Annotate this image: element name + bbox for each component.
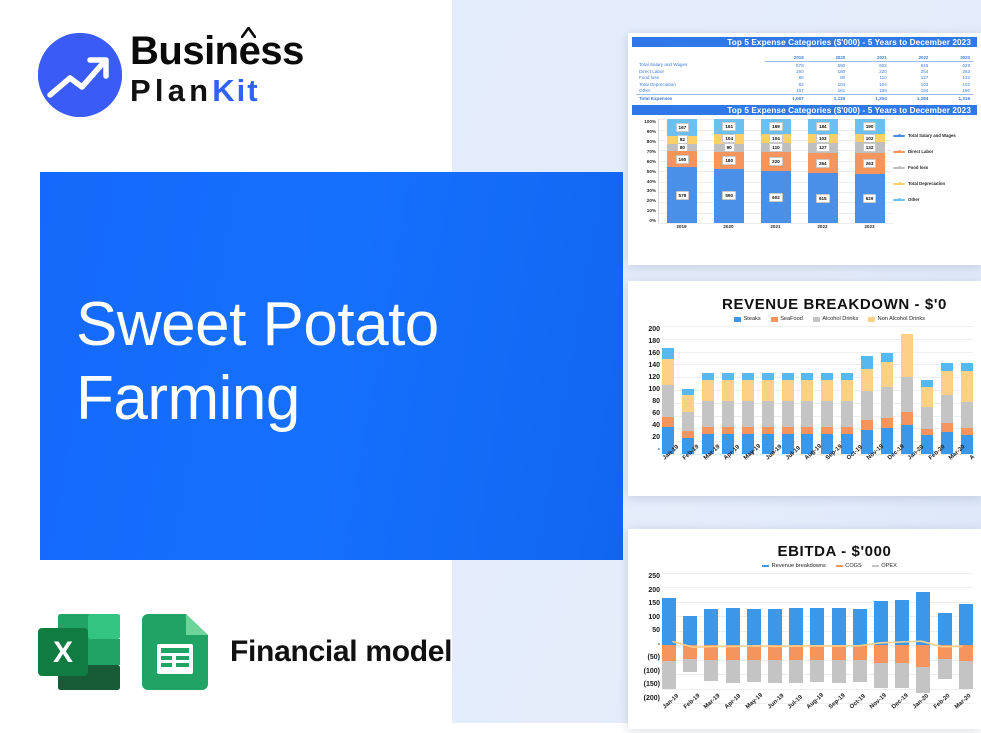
stacked-bar [722,373,734,454]
bar-segment [801,380,813,401]
expense-chart-banner: Top 5 Expense Categories ($'000) - 5 Yea… [632,105,977,115]
data-label: 190 [863,122,877,131]
legend-swatch [771,317,778,322]
expense-chart-x-axis: 20192020202120222023 [658,224,893,229]
axis-tick: (100) [634,668,660,676]
stacked-bar [782,373,794,454]
axis-tick: 10% [632,208,656,213]
bar-segment: 590 [714,169,744,224]
table-header-row: 20192020202120222023 [636,54,973,62]
legend-item: Total Depreciation [893,181,977,186]
legend-swatch [872,565,879,568]
bar-segment [941,395,953,424]
expense-chart-bars: 1678280160578161104901805901691041102206… [658,119,893,223]
bar-segment: 132 [855,142,885,152]
legend-swatch [893,183,905,185]
row-label: Other [636,88,765,95]
legend-label: COGS [845,563,861,569]
format-badges: X Financial model [38,612,452,692]
legend-item: OPEX [872,563,897,569]
legend-item: Total Salary and Wages [893,133,977,138]
bar-segment: 263 [855,153,885,174]
axis-tick: 20% [632,198,656,203]
bar-segment: 103 [808,134,838,142]
data-label: 602 [769,193,783,202]
table-cell: 1,067 [765,94,807,101]
legend-label: Steaks [744,316,761,322]
bar-segment [662,385,674,417]
ebitda-chart-legend: Revenue breakdownsCOGSOPEX [628,563,981,569]
axis-tick: 2022 [808,224,838,229]
legend-item: Revenue breakdowns [762,563,826,569]
bar-segment: 602 [761,171,791,223]
bar-segment [921,407,933,429]
bar-segment: 161 [714,119,744,134]
data-label: 254 [816,159,830,168]
google-sheets-icon [142,614,208,690]
column-header: 2019 [765,54,807,62]
expense-table-banner: Top 5 Expense Categories ($'000) - 5 Yea… [632,37,977,47]
bar-segment [662,417,674,427]
brand-plan-text: Plan [130,73,212,108]
bar-segment [881,362,893,388]
bar-segment [921,435,933,454]
expense-categories-card: Top 5 Expense Categories ($'000) - 5 Yea… [628,33,981,265]
bar-segment [702,427,714,434]
stacked-bar: 169104110220602 [761,119,791,223]
table-row: Other167161169184190 [636,88,973,95]
bar-segment [742,380,754,401]
axis-tick: 200 [634,326,660,334]
stacked-bar: 1678280160578 [667,119,697,223]
axis-tick: 20 [634,434,660,442]
axis-tick: 180 [634,338,660,346]
axis-tick: - [634,446,660,454]
data-label: 590 [722,191,736,200]
bar-segment [782,380,794,401]
bar-segment [801,401,813,427]
bar-segment [682,431,694,438]
bar-segment [841,401,853,427]
bar-segment [841,380,853,401]
bar-segment: 110 [761,143,791,152]
stacked-bar [881,353,893,454]
data-label: 615 [816,194,830,203]
table-cell: 184 [890,88,932,95]
table-cell: 1,316 [931,94,973,101]
table-cell: 190 [931,88,973,95]
expense-table: 20192020202120222023 Total Salary and Wa… [628,47,981,103]
data-label: 103 [816,134,830,143]
axis-tick: 2021 [761,224,791,229]
bar-segment [782,373,794,380]
legend-swatch [893,151,905,153]
data-label: 110 [769,143,782,152]
circumflex-accent-icon [241,27,256,38]
table-cell: 1,125 [807,94,849,101]
axis-tick: 100 [634,614,660,622]
bar-segment [961,428,973,435]
brand-kit-text: Kit [212,73,259,108]
revenue-breakdown-card: REVENUE BREAKDOWN - $'0 SteaksSeaFoodAlc… [628,281,981,496]
table-cell: 1,284 [890,94,932,101]
legend-swatch [893,167,905,169]
data-label: 263 [863,159,877,168]
page-title: Sweet Potato Farming [76,288,596,436]
bar-segment [762,380,774,401]
bar-segment [941,423,953,431]
stacked-bar: 184103127254615 [808,119,838,223]
legend-label: Direct Labor [908,149,933,154]
legend-label: OPEX [881,563,897,569]
bar-segment: 169 [761,119,791,134]
bar-segment [762,373,774,380]
axis-tick: 2020 [714,224,744,229]
bar-segment: 104 [761,134,791,143]
data-label: 90 [724,143,735,152]
column-header: 2021 [848,54,890,62]
legend-swatch [893,135,905,137]
table-cell: 590 [807,62,849,69]
data-label: 132 [863,143,877,152]
axis-tick: 90% [632,129,656,134]
data-label: 180 [722,156,736,165]
data-label: 104 [722,134,736,143]
bar-segment: 160 [667,151,697,167]
column-header: 2022 [890,54,932,62]
axis-tick: 80% [632,139,656,144]
brand-name-line2: PlanKit [130,73,340,109]
bar-segment [841,427,853,434]
axis-tick: 100% [632,119,656,124]
bar-segment [722,380,734,401]
expense-stacked-chart: 100%90%80%70%60%50%40%30%20%10%0% 167828… [630,119,979,241]
bar-segment: 629 [855,174,885,224]
axis-tick: 150 [634,600,660,608]
ebitda-card: EBITDA - $'000 Revenue breakdownsCOGSOPE… [628,529,981,729]
legend-label: Total Salary and Wages [908,133,956,138]
bar-segment [821,401,833,427]
axis-tick: 140 [634,362,660,370]
bar-segment [901,377,913,412]
bar-segment [881,353,893,362]
page-title-line1: Sweet Potato [76,288,596,362]
bar-segment: 104 [714,134,744,144]
bar-segment [742,401,754,427]
bar-segment [921,387,933,407]
ebitda-chart-title: EBITDA - $'000 [628,543,981,560]
axis-tick: 60 [634,410,660,418]
axis-tick: 200 [634,587,660,595]
presentation-slide: Business PlanKit Sweet Potato Farming [0,0,981,733]
axis-tick: 60% [632,159,656,164]
table-row: Total Expenses1,0671,1251,2041,2841,316 [636,94,973,101]
bar-segment: 102 [855,134,885,142]
table-cell: 602 [848,62,890,69]
legend-swatch [734,317,741,322]
data-label: 184 [816,122,830,131]
legend-swatch [762,565,769,568]
bar-segment [941,371,953,395]
bar-segment: 254 [808,153,838,174]
column-header [636,54,765,62]
axis-tick: 30% [632,188,656,193]
stacked-bar [961,362,973,454]
bar-segment [722,373,734,380]
data-label: 629 [863,194,877,203]
svg-text:X: X [53,636,73,669]
legend-item: Direct Labor [893,149,977,154]
stacked-bar [662,348,674,454]
legend-item: Food loss [893,165,977,170]
axis-tick: 120 [634,374,660,382]
stacked-bar: 190102132263629 [855,119,885,223]
bar-segment [961,402,973,428]
axis-tick: 100 [634,386,660,394]
bar-segment [662,348,674,359]
bar-segment [881,418,893,428]
brand-name-line1: Business [130,29,340,73]
bar-segment [722,401,734,427]
bar-segment [801,373,813,380]
stacked-bar [762,373,774,454]
data-label: 578 [676,191,690,200]
table-cell: 167 [765,88,807,95]
legend-item: Non Alcohol Drinks [868,316,925,322]
legend-label: SeaFood [780,316,803,322]
legend-label: Non Alcohol Drinks [878,316,925,322]
bar-segment [801,427,813,434]
microsoft-excel-icon: X [38,614,120,690]
axis-tick: 0% [632,218,656,223]
axis-tick: 40 [634,422,660,430]
row-label: Total Expenses [636,94,765,101]
legend-label: Food loss [908,165,928,170]
brand-business-text: Business [130,29,304,73]
bar-segment [762,427,774,434]
legend-swatch [813,317,820,322]
data-label: 220 [769,157,783,166]
bar-segment [881,387,893,418]
column-header: 2023 [931,54,973,62]
stacked-bar [861,356,873,454]
data-label: 160 [676,155,690,164]
bar-segment [762,401,774,427]
data-label: 169 [769,122,783,131]
bar-segment [961,363,973,372]
bar-segment [901,412,913,424]
stacked-bar: 16110490180590 [714,119,744,223]
stacked-bar [801,373,813,454]
legend-item: COGS [836,563,862,569]
axis-tick: 250 [634,573,660,581]
bar-segment [782,427,794,434]
stacked-bar [682,389,694,454]
data-label: 161 [722,122,736,131]
legend-swatch [868,317,875,322]
bar-segment [782,401,794,427]
ebitda-trend-line [662,573,973,703]
ebitda-chart-y-axis: 25020015010050-(50)(100)(150)(200) [634,573,660,703]
stacked-bar [921,380,933,454]
row-label: Total Salary and Wages [636,62,765,69]
axis-tick: 2023 [855,224,885,229]
bar-segment: 180 [714,152,744,169]
bar-segment: 80 [667,144,697,152]
page-title-line2: Farming [76,362,596,436]
revenue-chart-plot: 20018016014012010080604020- Jan-19Feb-19… [634,326,975,476]
stacked-bar [821,373,833,454]
legend-swatch [893,199,905,201]
bar-segment: 167 [667,119,697,135]
bar-segment [861,391,873,420]
table-cell: 578 [765,62,807,69]
revenue-chart-y-axis: 20018016014012010080604020- [634,326,660,454]
bar-segment [702,401,714,427]
bar-segment [961,371,973,402]
legend-label: Other [908,197,919,202]
column-header: 2020 [807,54,849,62]
axis-tick: 50 [634,627,660,635]
format-label: Financial model [230,635,452,669]
bar-segment: 184 [808,119,838,134]
bar-segment [841,373,853,380]
axis-tick: 80 [634,398,660,406]
data-label: 127 [816,143,830,152]
table-cell: 629 [931,62,973,69]
legend-label: Total Depreciation [908,181,945,186]
data-label: 167 [676,123,690,132]
brand-logo[interactable]: Business PlanKit [38,29,338,119]
bar-segment [861,369,873,391]
bar-segment: 578 [667,167,697,223]
table-cell: 169 [848,88,890,95]
axis-tick: (200) [634,695,660,703]
revenue-chart-legend: SteaksSeaFoodAlcohol DrinksNon Alcohol D… [628,316,981,322]
bar-segment: 220 [761,152,791,171]
bar-segment [702,380,714,401]
axis-tick: 160 [634,350,660,358]
bar-segment [821,380,833,401]
table-cell: 161 [807,88,849,95]
bar-segment: 127 [808,143,838,153]
table-cell: 1,204 [848,94,890,101]
axis-tick: - [634,641,660,649]
legend-label: Revenue breakdowns [772,563,826,569]
legend-item: Alcohol Drinks [813,316,858,322]
axis-tick: 40% [632,179,656,184]
bar-segment [742,373,754,380]
bar-segment [821,373,833,380]
legend-item: SeaFood [771,316,803,322]
legend-label: Alcohol Drinks [822,316,858,322]
axis-tick: 50% [632,169,656,174]
stacked-bar [941,363,953,454]
legend-item: Other [893,197,977,202]
table-row: Total Salary and Wages578590602615629 [636,62,973,69]
revenue-chart-x-axis: Jan-19Feb-19Mar-19Apr-19May-19Jun-19Jul-… [662,457,973,463]
legend-item: Steaks [734,316,761,322]
stacked-bar [901,334,913,454]
table-cell: 615 [890,62,932,69]
axis-tick: (50) [634,654,660,662]
axis-tick: 70% [632,149,656,154]
bar-segment: 615 [808,173,838,223]
stacked-bar [742,373,754,454]
data-label: 104 [769,134,783,143]
growth-arrow-icon [38,33,122,117]
bar-segment [901,334,913,377]
axis-tick: (150) [634,681,660,689]
bar-segment [861,356,873,369]
expense-chart-y-axis: 100%90%80%70%60%50%40%30%20%10%0% [632,119,656,223]
bar-segment [682,412,694,431]
bar-segment: 90 [714,144,744,152]
bar-segment [682,395,694,412]
bar-segment: 190 [855,119,885,134]
axis-tick: A [969,454,976,461]
bar-segment [722,427,734,434]
legend-swatch [836,565,843,568]
bar-segment [742,427,754,434]
revenue-chart-bars [662,326,973,454]
bar-segment [861,420,873,430]
expense-chart-legend: Total Salary and WagesDirect LaborFood l… [893,133,977,202]
revenue-chart-title: REVENUE BREAKDOWN - $'0 [628,296,981,313]
bar-segment [702,373,714,380]
bar-segment [662,359,674,385]
bar-segment [821,427,833,434]
bar-segment [881,428,893,454]
bar-segment [941,363,953,371]
stacked-bar [702,373,714,454]
ebitda-chart-plot: 25020015010050-(50)(100)(150)(200) Jan-1… [634,573,975,723]
axis-tick: 2019 [667,224,697,229]
ebitda-chart-x-axis: Jan-19Feb-19Mar-19Apr-19May-19Jun-19Jul-… [662,706,973,712]
stacked-bar [841,373,853,454]
